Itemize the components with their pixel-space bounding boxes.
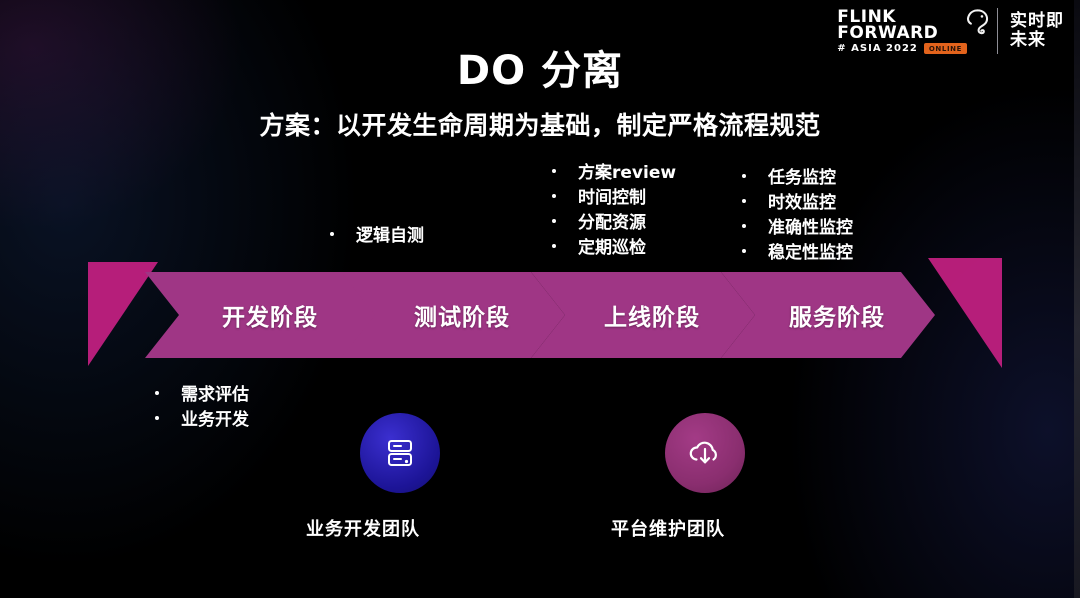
slide-canvas: FLINK FORWARD # ASIA 2022 ONLINE 实时即 未来 … (0, 0, 1080, 598)
flink-forward-logo: FLINK FORWARD # ASIA 2022 ONLINE 实时即 未来 (837, 8, 1064, 54)
list-item: 逻辑自测 (330, 224, 424, 249)
chevron-label: 测试阶段 (414, 298, 510, 332)
chevron-label: 上线阶段 (604, 298, 700, 332)
logo-tagline: 实时即 未来 (1010, 12, 1064, 50)
bullet-dot-icon (155, 416, 159, 420)
bullet-dot-icon (552, 244, 556, 248)
team-business-development: 业务开发团队 (323, 413, 477, 541)
bullet-list-develop: 需求评估 业务开发 (155, 383, 249, 433)
bullet-dot-icon (552, 169, 556, 173)
magenta-wedge-right (928, 258, 1002, 368)
list-item-label: 逻辑自测 (356, 224, 424, 249)
list-item: 方案review (552, 161, 676, 186)
cloud-download-icon (684, 432, 726, 474)
team-label: 平台维护团队 (611, 515, 725, 541)
chevron-label: 开发阶段 (222, 298, 318, 332)
bullet-dot-icon (155, 391, 159, 395)
chevron-label: 服务阶段 (789, 298, 885, 332)
bullet-dot-icon (742, 174, 746, 178)
logo-tagline-line2: 未来 (1010, 31, 1064, 50)
list-item: 任务监控 (742, 166, 853, 191)
squirrel-icon (959, 7, 993, 41)
chevron-stage-develop[interactable]: 开发阶段 (145, 272, 377, 358)
bullet-dot-icon (330, 232, 334, 236)
team-icon-circle (665, 413, 745, 493)
logo-wordmark: FLINK FORWARD # ASIA 2022 ONLINE (837, 9, 967, 54)
list-item: 需求评估 (155, 383, 249, 408)
bullet-list-test: 逻辑自测 (330, 224, 424, 249)
team-label: 业务开发团队 (306, 515, 420, 541)
bullet-list-online: 方案review 时间控制 分配资源 定期巡检 (552, 161, 676, 261)
list-item-label: 方案review (578, 161, 676, 186)
list-item: 时间控制 (552, 186, 676, 211)
list-item: 分配资源 (552, 211, 676, 236)
list-item-label: 时效监控 (768, 191, 836, 216)
bullet-dot-icon (742, 199, 746, 203)
bullet-dot-icon (742, 224, 746, 228)
list-item: 稳定性监控 (742, 241, 853, 266)
logo-tagline-line1: 实时即 (1010, 12, 1064, 31)
list-item-label: 任务监控 (768, 166, 836, 191)
list-item: 定期巡检 (552, 236, 676, 261)
list-item-label: 时间控制 (578, 186, 646, 211)
bullet-dot-icon (552, 194, 556, 198)
list-item-label: 准确性监控 (768, 216, 853, 241)
list-item-label: 稳定性监控 (768, 241, 853, 266)
online-badge: ONLINE (924, 43, 967, 54)
logo-divider (997, 8, 998, 54)
bullet-dot-icon (742, 249, 746, 253)
neon-arc (918, 16, 1080, 598)
bullet-list-service: 任务监控 时效监控 准确性监控 稳定性监控 (742, 166, 853, 266)
logo-line-forward: FORWARD (837, 25, 967, 42)
bullet-dot-icon (552, 219, 556, 223)
logo-subline: # ASIA 2022 ONLINE (837, 43, 967, 54)
list-item-label: 需求评估 (181, 383, 249, 408)
list-item: 时效监控 (742, 191, 853, 216)
list-item-label: 业务开发 (181, 408, 249, 433)
logo-edition: # ASIA 2022 (837, 43, 918, 54)
list-item: 业务开发 (155, 408, 249, 433)
team-icon-circle (360, 413, 440, 493)
list-item-label: 定期巡检 (578, 236, 646, 261)
list-item-label: 分配资源 (578, 211, 646, 236)
process-chevron-band: 开发阶段 测试阶段 上线阶段 服务阶段 (145, 272, 935, 358)
team-platform-maintenance: 平台维护团队 (628, 413, 782, 541)
list-item: 准确性监控 (742, 216, 853, 241)
server-icon (380, 433, 420, 473)
page-subtitle: 方案：以开发生命周期为基础，制定严格流程规范 (0, 106, 1080, 142)
